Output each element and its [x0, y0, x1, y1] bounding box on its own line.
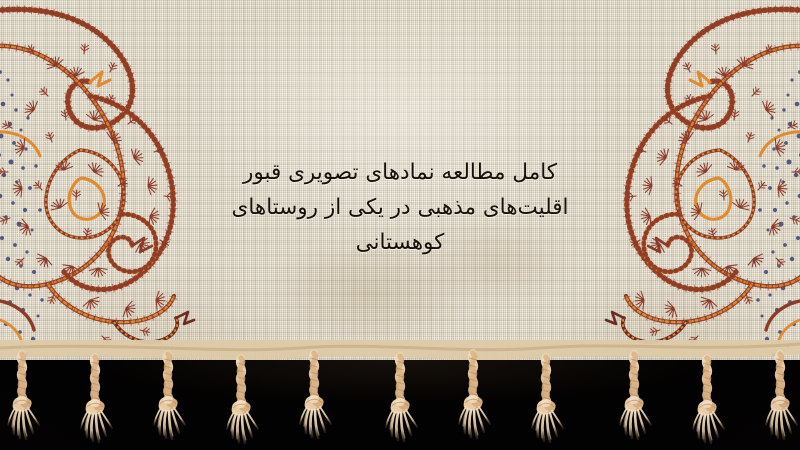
black-backdrop [0, 360, 800, 450]
slide-canvas: کامل مطالعه نمادهای تصویری قبور اقلیت‌ها… [0, 0, 800, 450]
backdrop-glow [0, 360, 800, 450]
slide-title: کامل مطالعه نمادهای تصویری قبور اقلیت‌ها… [0, 155, 800, 260]
title-line-2: اقلیت‌های مذهبی در یکی از روستاهای [186, 190, 614, 225]
title-line-3: کوهستانی [186, 225, 614, 260]
title-line-1: کامل مطالعه نمادهای تصویری قبور [186, 155, 614, 190]
